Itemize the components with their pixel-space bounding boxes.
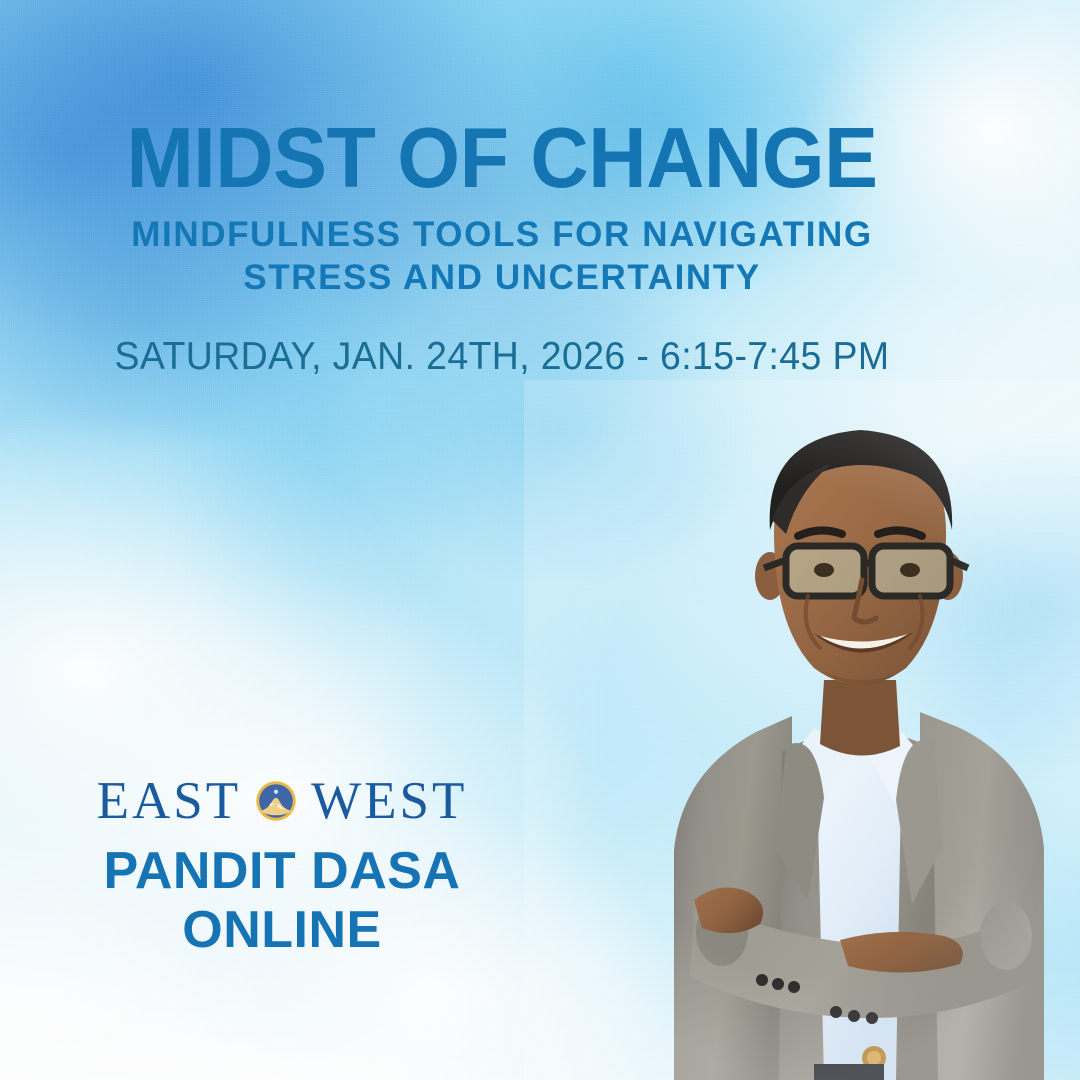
event-format-label: ONLINE [96, 901, 468, 960]
event-poster: MIDST OF CHANGE MINDFULNESS TOOLS FOR NA… [0, 0, 1080, 1080]
mountain-sun-emblem-icon [255, 780, 297, 822]
logo-word-west: WEST [311, 775, 467, 828]
headline-text-block: MIDST OF CHANGE MINDFULNESS TOOLS FOR NA… [0, 0, 1004, 379]
page-subtitle: MINDFULNESS TOOLS FOR NAVIGATING STRESS … [0, 213, 1004, 300]
page-title: MIDST OF CHANGE [25, 0, 979, 203]
logo-word-east: EAST [97, 775, 242, 828]
event-datetime: SATURDAY, JAN. 24TH, 2026 - 6:15-7:45 PM [20, 335, 984, 379]
subtitle-line-2: STRESS AND UNCERTAINTY [243, 258, 760, 297]
east-west-logo: EAST WEST [96, 768, 468, 834]
subtitle-line-1: MINDFULNESS TOOLS FOR NAVIGATING [131, 215, 872, 254]
speaker-name: PANDIT DASA [96, 842, 468, 901]
speaker-portrait-photo [524, 380, 1080, 1080]
branding-block: EAST WEST PANDIT DASA ONLINE [96, 768, 468, 961]
